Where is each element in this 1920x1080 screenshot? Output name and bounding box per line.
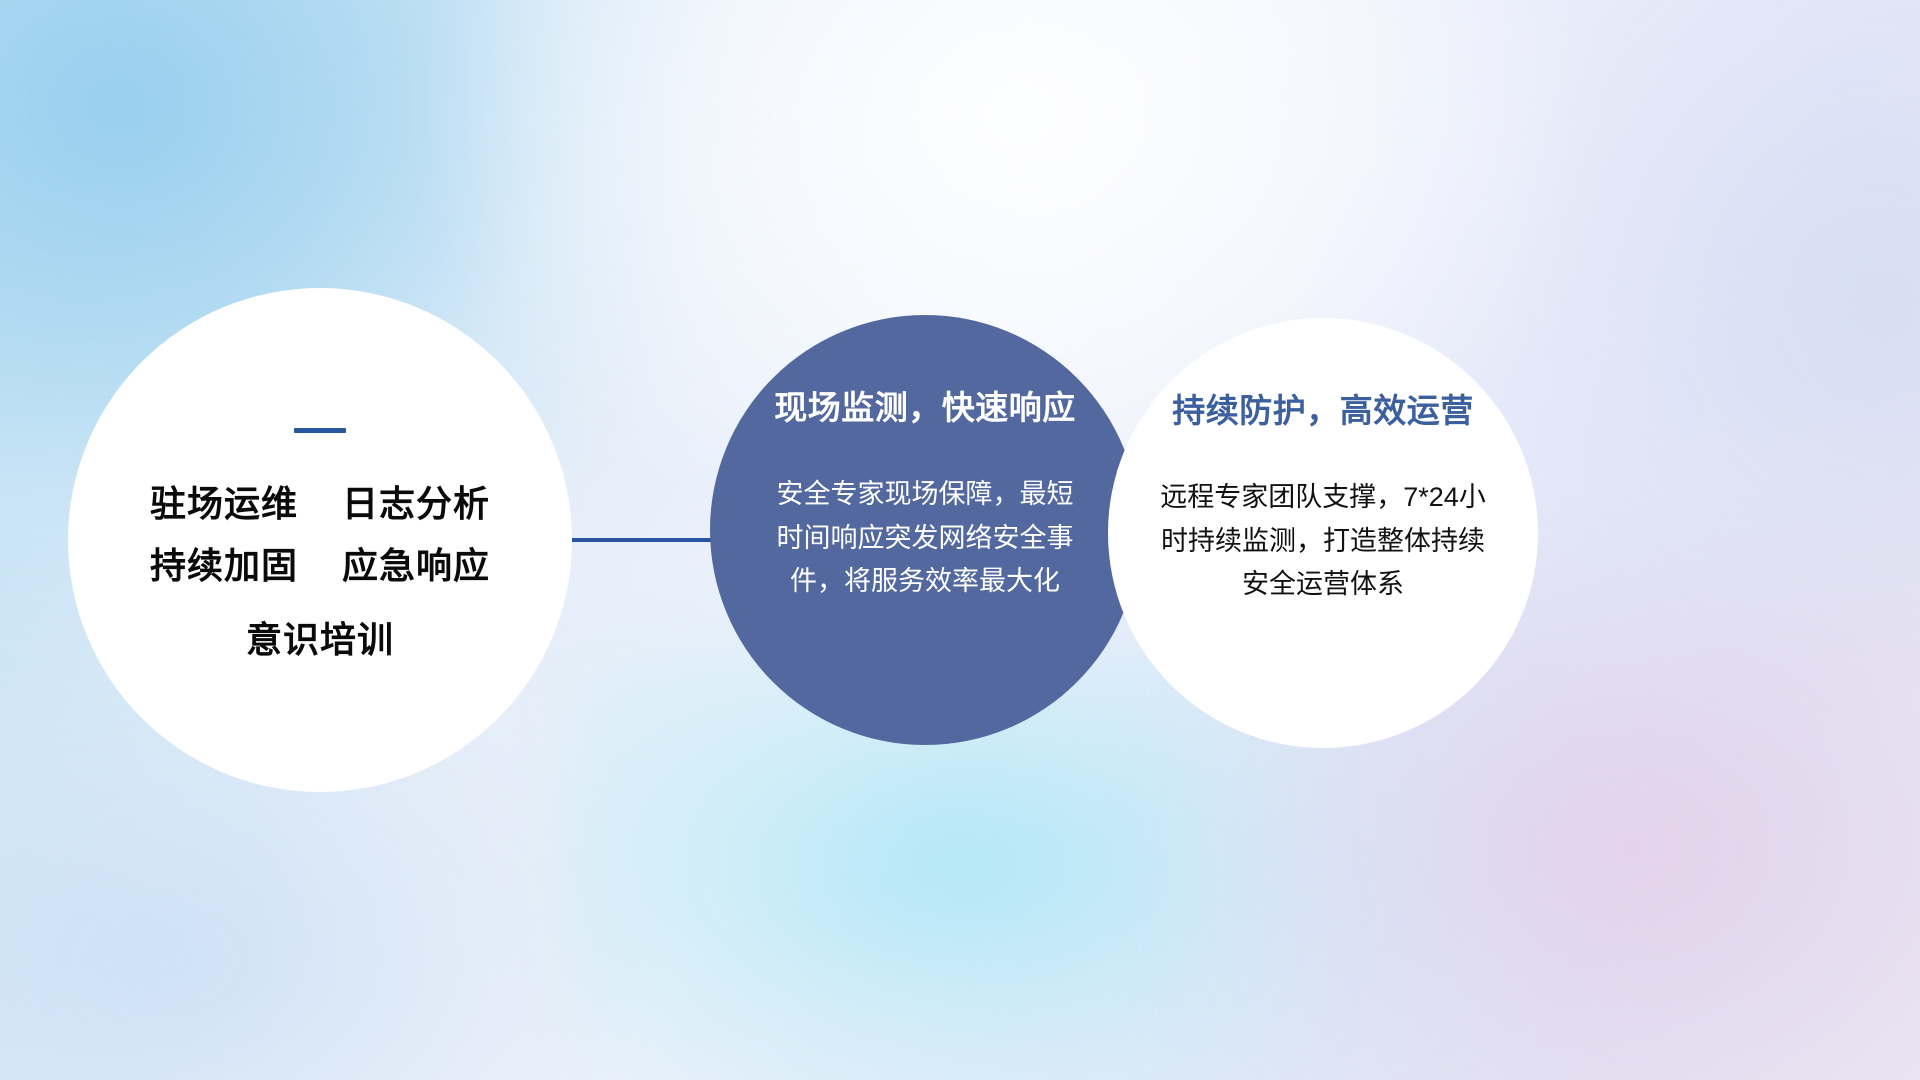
left-circle-line-2: 持续加固 应急响应 bbox=[150, 535, 490, 597]
left-circle-line-3: 意识培训 bbox=[150, 609, 490, 671]
continuous-protection-body: 远程专家团队支撑，7*24小时持续监测，打造整体持续安全运营体系 bbox=[1158, 476, 1488, 607]
left-circle-divider bbox=[294, 428, 346, 433]
left-service-circle[interactable]: 驻场运维 日志分析 持续加固 应急响应 意识培训 bbox=[68, 288, 572, 792]
left-circle-text-block: 驻场运维 日志分析 持续加固 应急响应 意识培训 bbox=[150, 473, 490, 671]
left-circle-line-1: 驻场运维 日志分析 bbox=[150, 473, 490, 535]
continuous-protection-title: 持续防护，高效运营 bbox=[1172, 384, 1474, 432]
onsite-monitoring-circle[interactable]: 现场监测，快速响应 安全专家现场保障，最短时间响应突发网络安全事件，将服务效率最… bbox=[710, 315, 1140, 745]
continuous-protection-circle[interactable]: 持续防护，高效运营 远程专家团队支撑，7*24小时持续监测，打造整体持续安全运营… bbox=[1108, 318, 1538, 748]
onsite-monitoring-body: 安全专家现场保障，最短时间响应突发网络安全事件，将服务效率最大化 bbox=[770, 473, 1080, 604]
onsite-monitoring-title: 现场监测，快速响应 bbox=[774, 381, 1076, 429]
slide-canvas: 驻场运维 日志分析 持续加固 应急响应 意识培训 现场监测，快速响应 安全专家现… bbox=[0, 0, 1920, 1080]
